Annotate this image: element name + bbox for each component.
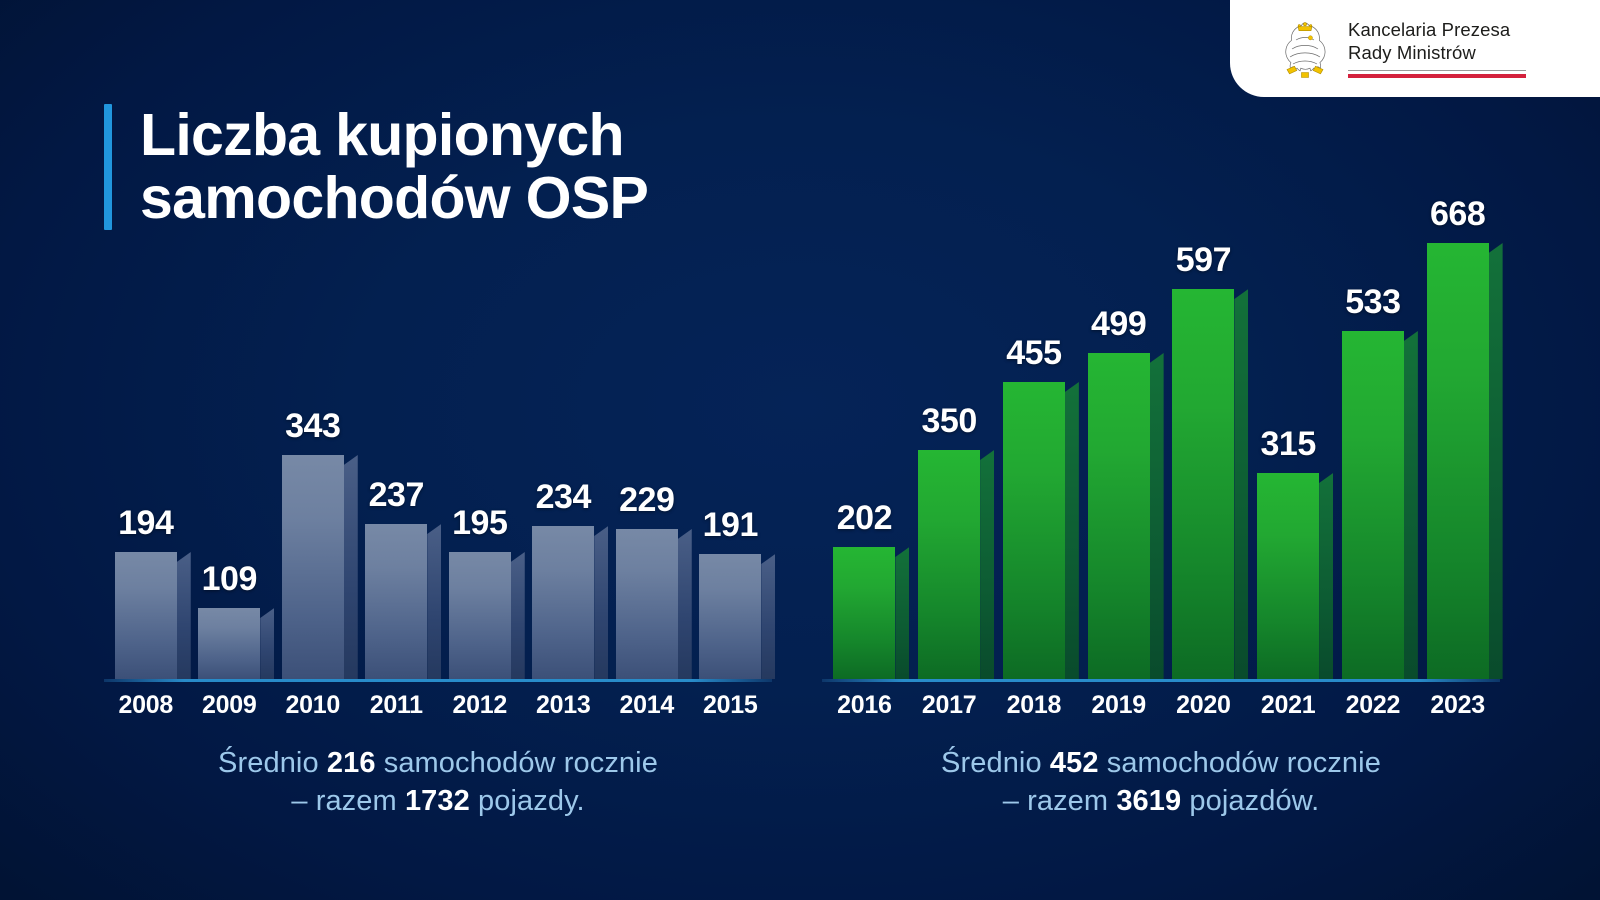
bar-2010: 343 xyxy=(282,455,344,679)
bar-side-face xyxy=(895,547,909,679)
bar-side-face xyxy=(1404,331,1418,679)
caption-average: 452 xyxy=(1050,747,1099,779)
bar-value-label: 343 xyxy=(285,407,340,446)
logo-rules xyxy=(1348,70,1526,78)
bar-front-face: 533 xyxy=(1342,331,1404,679)
bar-value-label: 109 xyxy=(202,560,257,599)
polish-eagle-emblem-icon xyxy=(1274,16,1336,82)
x-label-2015: 2015 xyxy=(689,691,773,720)
bar-front-face: 315 xyxy=(1257,473,1319,679)
bar-front-face: 350 xyxy=(918,450,980,679)
bar-slot: 533 xyxy=(1331,150,1416,679)
caption-average: 216 xyxy=(327,747,376,779)
bar-slot: 499 xyxy=(1076,150,1161,679)
bar-front-face: 109 xyxy=(198,608,260,679)
logo-card: Kancelaria Prezesa Rady Ministrów xyxy=(1230,0,1600,97)
bar-slot: 343 xyxy=(271,150,355,679)
plot-area-right: 202350455499597315533668 xyxy=(822,150,1500,680)
bar-value-label: 237 xyxy=(369,476,424,515)
plot-area-left: 194109343237195234229191 xyxy=(104,150,772,680)
caption-right: Średnio 452 samochodów rocznie– razem 36… xyxy=(822,744,1500,821)
bar-side-face xyxy=(1489,243,1503,679)
bar-value-label: 315 xyxy=(1261,425,1316,464)
bar-2011: 237 xyxy=(365,524,427,679)
bar-2018: 455 xyxy=(1003,382,1065,679)
bar-front-face: 343 xyxy=(282,455,344,679)
bar-2009: 109 xyxy=(198,608,260,679)
bar-2017: 350 xyxy=(918,450,980,679)
bar-side-face xyxy=(511,552,525,679)
bar-side-face xyxy=(1234,289,1248,679)
bar-slot: 237 xyxy=(355,150,439,679)
bar-slot: 229 xyxy=(605,150,689,679)
bar-front-face: 194 xyxy=(115,552,177,679)
bar-side-face xyxy=(177,552,191,679)
bar-value-label: 195 xyxy=(452,504,507,543)
bar-slot: 234 xyxy=(522,150,606,679)
bar-slot: 455 xyxy=(992,150,1077,679)
bar-side-face xyxy=(1150,353,1164,679)
bar-slot: 350 xyxy=(907,150,992,679)
bar-slot: 315 xyxy=(1246,150,1331,679)
bar-value-label: 194 xyxy=(118,504,173,543)
bar-2021: 315 xyxy=(1257,473,1319,679)
bar-side-face xyxy=(761,554,775,679)
bar-value-label: 202 xyxy=(837,499,892,538)
bar-front-face: 234 xyxy=(532,526,594,679)
bar-side-face xyxy=(678,529,692,679)
bar-2019: 499 xyxy=(1088,353,1150,679)
bar-2014: 229 xyxy=(616,529,678,679)
bar-value-label: 668 xyxy=(1430,195,1485,234)
bar-front-face: 237 xyxy=(365,524,427,679)
logo-line-1: Kancelaria Prezesa xyxy=(1348,19,1526,42)
bar-front-face: 229 xyxy=(616,529,678,679)
bar-front-face: 195 xyxy=(449,552,511,679)
bar-2015: 191 xyxy=(699,554,761,679)
bar-front-face: 668 xyxy=(1427,243,1489,679)
x-label-2020: 2020 xyxy=(1161,691,1246,720)
caption-total: 3619 xyxy=(1116,785,1181,817)
bar-front-face: 455 xyxy=(1003,382,1065,679)
bar-side-face xyxy=(980,450,994,679)
logo-rule-gray xyxy=(1348,70,1526,72)
bar-2023: 668 xyxy=(1427,243,1489,679)
x-label-2017: 2017 xyxy=(907,691,992,720)
bar-slot: 195 xyxy=(438,150,522,679)
bar-side-face xyxy=(260,608,274,679)
bar-slot: 668 xyxy=(1415,150,1500,679)
bar-series-right: 202350455499597315533668 xyxy=(822,150,1500,679)
x-label-2019: 2019 xyxy=(1076,691,1161,720)
bar-front-face: 191 xyxy=(699,554,761,679)
x-label-2018: 2018 xyxy=(992,691,1077,720)
logo-text: Kancelaria Prezesa Rady Ministrów xyxy=(1348,19,1526,77)
logo-rule-red xyxy=(1348,74,1526,78)
bar-slot: 194 xyxy=(104,150,188,679)
x-label-2014: 2014 xyxy=(605,691,689,720)
infographic-canvas: Kancelaria Prezesa Rady Ministrów Liczba… xyxy=(0,0,1600,900)
bar-series-left: 194109343237195234229191 xyxy=(104,150,772,679)
bar-value-label: 350 xyxy=(922,402,977,441)
bar-side-face xyxy=(1065,382,1079,679)
bar-2013: 234 xyxy=(532,526,594,679)
x-label-2008: 2008 xyxy=(104,691,188,720)
bar-value-label: 499 xyxy=(1091,305,1146,344)
bar-slot: 597 xyxy=(1161,150,1246,679)
bar-slot: 191 xyxy=(689,150,773,679)
bar-2020: 597 xyxy=(1172,289,1234,679)
x-label-2023: 2023 xyxy=(1415,691,1500,720)
bar-side-face xyxy=(344,455,358,679)
x-label-2021: 2021 xyxy=(1246,691,1331,720)
bar-slot: 109 xyxy=(188,150,272,679)
x-label-2012: 2012 xyxy=(438,691,522,720)
x-axis-right: 20162017201820192020202120222023 xyxy=(822,691,1500,720)
bar-side-face xyxy=(594,526,608,679)
bar-value-label: 533 xyxy=(1345,283,1400,322)
bar-side-face xyxy=(427,524,441,679)
bar-2016: 202 xyxy=(833,547,895,679)
caption-left: Średnio 216 samochodów rocznie– razem 17… xyxy=(104,744,772,821)
bar-value-label: 191 xyxy=(703,506,758,545)
x-label-2009: 2009 xyxy=(188,691,272,720)
x-label-2013: 2013 xyxy=(522,691,606,720)
bar-value-label: 234 xyxy=(536,478,591,517)
x-axis-left: 20082009201020112012201320142015 xyxy=(104,691,772,720)
bar-value-label: 229 xyxy=(619,481,674,520)
x-label-2022: 2022 xyxy=(1331,691,1416,720)
caption-total: 1732 xyxy=(405,785,470,817)
bar-slot: 202 xyxy=(822,150,907,679)
x-label-2010: 2010 xyxy=(271,691,355,720)
chart-panel-left: 194109343237195234229191 200820092010201… xyxy=(104,150,772,750)
bar-front-face: 202 xyxy=(833,547,895,679)
bar-side-face xyxy=(1319,473,1333,679)
bar-front-face: 597 xyxy=(1172,289,1234,679)
bar-front-face: 499 xyxy=(1088,353,1150,679)
bar-value-label: 597 xyxy=(1176,241,1231,280)
bar-2022: 533 xyxy=(1342,331,1404,679)
axis-baseline-left xyxy=(104,679,772,682)
axis-baseline-right xyxy=(822,679,1500,682)
logo-line-2: Rady Ministrów xyxy=(1348,42,1526,65)
x-label-2011: 2011 xyxy=(355,691,439,720)
bar-2012: 195 xyxy=(449,552,511,679)
chart-panel-right: 202350455499597315533668 201620172018201… xyxy=(822,150,1500,750)
bar-value-label: 455 xyxy=(1006,334,1061,373)
x-label-2016: 2016 xyxy=(822,691,907,720)
bar-2008: 194 xyxy=(115,552,177,679)
